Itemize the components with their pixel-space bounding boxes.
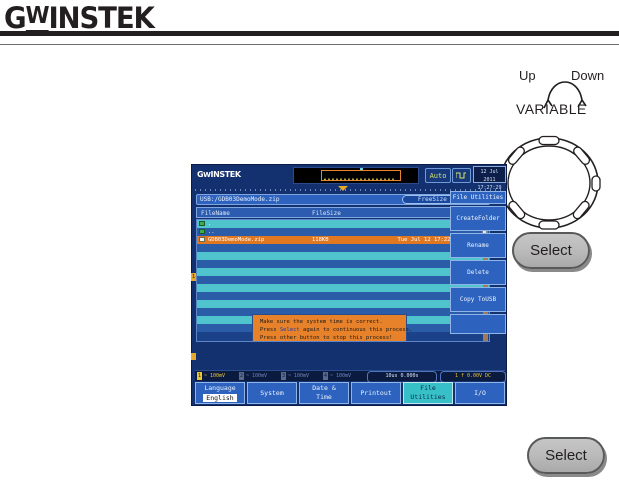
side-menu-label: Copy To bbox=[460, 296, 485, 304]
tick-mark bbox=[205, 189, 206, 191]
scope-brand-logo: GWINSTEK bbox=[197, 170, 241, 179]
tick-mark bbox=[290, 189, 291, 191]
trigger-level-marker bbox=[191, 353, 196, 360]
header-rule-thin bbox=[0, 44, 619, 45]
bottom-menu-label: System bbox=[260, 389, 283, 398]
file-row-empty bbox=[197, 260, 489, 268]
tick-mark bbox=[325, 189, 326, 191]
down-label: Down bbox=[571, 68, 604, 83]
file-name: .. bbox=[208, 228, 215, 236]
tick-mark bbox=[295, 189, 296, 191]
tick-mark bbox=[375, 189, 376, 191]
side-menu-create-folder[interactable]: CreateFolder bbox=[450, 206, 506, 231]
channel-number-badge: 2 bbox=[239, 372, 244, 380]
side-menu-label: USB bbox=[485, 296, 496, 304]
scope-top-bar: GWINSTEK Auto 12 Jul 2011 17:27:29 bbox=[192, 165, 508, 187]
tick-mark bbox=[350, 189, 351, 191]
tick-mark bbox=[395, 189, 396, 191]
tick-mark bbox=[210, 189, 211, 191]
dialog-line-2-a: Press bbox=[260, 327, 280, 333]
file-path-bar[interactable]: USB:/GDB03DemoMode.zip FreeSize 41.58M bbox=[196, 194, 490, 205]
tick-mark bbox=[230, 189, 231, 191]
bottom-menu-label: I/O bbox=[474, 389, 486, 398]
bottom-menu-system[interactable]: System bbox=[247, 382, 297, 404]
side-menu: File UtilitiesCreateFolderRenameDeleteCo… bbox=[450, 191, 506, 341]
bottom-menu-label: File bbox=[420, 384, 436, 393]
side-menu-blank bbox=[450, 314, 506, 334]
current-path-text: USB:/GDB03DemoMode.zip bbox=[200, 196, 279, 203]
side-menu-label: Delete bbox=[467, 269, 489, 277]
bottom-menu-i-o[interactable]: I/O bbox=[455, 382, 505, 404]
auto-trigger-badge[interactable]: Auto bbox=[425, 168, 451, 183]
waveform-zoom-box bbox=[321, 170, 401, 181]
channel-scale-value: ~ 100mV bbox=[204, 373, 225, 379]
tick-mark bbox=[200, 189, 201, 191]
tick-mark bbox=[380, 189, 381, 191]
channel-indicator-4[interactable]: 4~ 100mV bbox=[323, 372, 351, 381]
bottom-menu-label: Language bbox=[204, 384, 235, 393]
file-row-empty bbox=[197, 292, 489, 300]
dialog-line-2-highlight: Select bbox=[280, 327, 300, 333]
tick-mark bbox=[225, 189, 226, 191]
tick-mark bbox=[385, 189, 386, 191]
file-row-empty bbox=[197, 252, 489, 260]
file-row[interactable]: . bbox=[197, 220, 489, 228]
file-row-empty bbox=[197, 276, 489, 284]
page-header: GWINSTEK bbox=[0, 0, 619, 46]
tick-mark bbox=[320, 189, 321, 191]
channel-number-badge: 3 bbox=[281, 372, 286, 380]
tick-mark bbox=[215, 189, 216, 191]
file-name: GDB03DemoMode.zip bbox=[208, 236, 264, 244]
gwinstek-logo: GWINSTEK bbox=[4, 1, 154, 35]
tick-mark bbox=[355, 189, 356, 191]
side-menu-copy-to-usb[interactable]: Copy ToUSB bbox=[450, 287, 506, 312]
tick-mark bbox=[240, 189, 241, 191]
side-menu-delete[interactable]: Delete bbox=[450, 260, 506, 285]
tick-mark bbox=[305, 189, 306, 191]
tick-mark bbox=[285, 189, 286, 191]
tick-mark bbox=[220, 189, 221, 191]
dialog-line-1: Make sure the system time is correct. bbox=[260, 318, 406, 326]
folder-icon bbox=[199, 221, 205, 226]
logo-u-underline: W bbox=[25, 3, 48, 29]
tick-mark bbox=[370, 189, 371, 191]
waveform-preview-panel bbox=[293, 167, 419, 184]
select-button-bottom[interactable]: Select bbox=[527, 437, 605, 474]
tick-mark bbox=[410, 189, 411, 191]
file-row-empty bbox=[197, 268, 489, 276]
channel-number-badge: 4 bbox=[323, 372, 328, 380]
tick-mark bbox=[260, 189, 261, 191]
file-list[interactable]: ...GDB03DemoMode.zip118KBTue Jul 12 17:2… bbox=[196, 219, 490, 342]
tick-mark bbox=[255, 189, 256, 191]
channel-indicator-2[interactable]: 2~ 100mV bbox=[239, 372, 267, 381]
tick-mark bbox=[270, 189, 271, 191]
tick-mark bbox=[435, 189, 436, 191]
column-header-filesize: FileSize bbox=[312, 210, 341, 217]
side-menu-rename[interactable]: Rename bbox=[450, 233, 506, 258]
tick-mark bbox=[365, 189, 366, 191]
tick-mark bbox=[300, 189, 301, 191]
tick-mark bbox=[420, 189, 421, 191]
trigger-position-pointer bbox=[338, 186, 348, 191]
square-wave-icon[interactable] bbox=[452, 168, 471, 183]
scope-date: 12 Jul 2011 bbox=[474, 168, 505, 184]
up-label: Up bbox=[519, 68, 536, 83]
folder-icon bbox=[199, 229, 205, 234]
tick-mark bbox=[430, 189, 431, 191]
bottom-menu-label: Utilities bbox=[410, 393, 445, 402]
file-name: . bbox=[208, 220, 211, 228]
sine-waveform-icon bbox=[322, 177, 400, 181]
tick-mark bbox=[445, 189, 446, 191]
channel-indicator-3[interactable]: 3~ 100mV bbox=[281, 372, 309, 381]
file-row-empty bbox=[197, 244, 489, 252]
logo-instek: INSTEK bbox=[48, 1, 153, 35]
tick-mark bbox=[235, 189, 236, 191]
tick-mark bbox=[415, 189, 416, 191]
bottom-menu-language[interactable]: LanguageEnglish bbox=[195, 382, 245, 404]
channel-indicator-1[interactable]: 1~ 100mV bbox=[197, 372, 225, 381]
scope-logo-instek: INSTEK bbox=[211, 170, 241, 179]
channel-number-badge: 1 bbox=[197, 372, 202, 380]
select-button-top[interactable]: Select bbox=[512, 232, 590, 269]
bottom-menu-label: Time bbox=[316, 393, 332, 402]
channel-1-ground-marker: 1 bbox=[191, 273, 196, 281]
dialog-line-3: Press other button to stop this process! bbox=[260, 334, 406, 342]
dialog-line-2: Press Select again to continuous this pr… bbox=[260, 326, 406, 334]
bottom-menu: LanguageEnglishSystemDate &TimePrintoutF… bbox=[195, 382, 505, 404]
tick-mark bbox=[425, 189, 426, 191]
side-menu-label: Create bbox=[456, 215, 478, 223]
file-row-empty bbox=[197, 300, 489, 308]
tick-mark bbox=[265, 189, 266, 191]
tick-mark bbox=[440, 189, 441, 191]
tick-mark bbox=[390, 189, 391, 191]
file-size: 118KB bbox=[312, 236, 329, 244]
channel-scale-value: ~ 100mV bbox=[246, 373, 267, 379]
bottom-menu-label: Date & bbox=[312, 384, 335, 393]
channel-scale-value: ~ 100mV bbox=[288, 373, 309, 379]
logo-gw: G bbox=[4, 1, 25, 35]
side-menu-label: Rename bbox=[467, 242, 489, 250]
channel-scale-value: ~ 100mV bbox=[330, 373, 351, 379]
dialog-line-2-b: again to continuous this process. bbox=[300, 327, 413, 333]
variable-label: VARIABLE bbox=[516, 101, 587, 117]
column-header-filename: FileName bbox=[201, 210, 230, 217]
tick-mark bbox=[330, 189, 331, 191]
tick-mark bbox=[400, 189, 401, 191]
file-list-column-header: FileName FileSize Date bbox=[196, 207, 490, 218]
file-icon bbox=[199, 237, 205, 242]
bottom-menu-sub-value: English bbox=[203, 394, 236, 402]
bottom-menu-file-utilities[interactable]: FileUtilities bbox=[403, 382, 453, 404]
oscilloscope-screen: GWINSTEK Auto 12 Jul 2011 17:27:29 USB:/… bbox=[191, 164, 507, 406]
file-row[interactable]: .. bbox=[197, 228, 489, 236]
tick-mark bbox=[315, 189, 316, 191]
tick-mark bbox=[245, 189, 246, 191]
tick-mark bbox=[195, 189, 196, 191]
tick-mark bbox=[250, 189, 251, 191]
tick-mark bbox=[405, 189, 406, 191]
bottom-menu-printout[interactable]: Printout bbox=[351, 382, 401, 404]
confirmation-dialog: Make sure the system time is correct. Pr… bbox=[252, 314, 407, 342]
bottom-menu-label: Printout bbox=[360, 389, 391, 398]
bottom-menu-date-time[interactable]: Date &Time bbox=[299, 382, 349, 404]
tick-mark bbox=[360, 189, 361, 191]
side-menu-label: File Utilities bbox=[453, 194, 504, 202]
tick-mark bbox=[280, 189, 281, 191]
side-menu-file-utilities[interactable]: File Utilities bbox=[450, 191, 506, 204]
side-menu-label: Folder bbox=[478, 215, 500, 223]
datetime-display: 12 Jul 2011 17:27:29 bbox=[473, 166, 506, 183]
tick-mark bbox=[310, 189, 311, 191]
variable-knob[interactable] bbox=[497, 135, 601, 231]
status-strip: 1~ 100mV2~ 100mV3~ 100mV4~ 100mV 10us 0.… bbox=[195, 370, 505, 381]
header-rule-thick bbox=[0, 31, 619, 36]
tick-mark bbox=[275, 189, 276, 191]
file-row-empty bbox=[197, 284, 489, 292]
tick-mark bbox=[335, 189, 336, 191]
scope-logo-u: W bbox=[203, 171, 210, 179]
file-row[interactable]: GDB03DemoMode.zip118KBTue Jul 12 17:22:3… bbox=[197, 236, 489, 244]
